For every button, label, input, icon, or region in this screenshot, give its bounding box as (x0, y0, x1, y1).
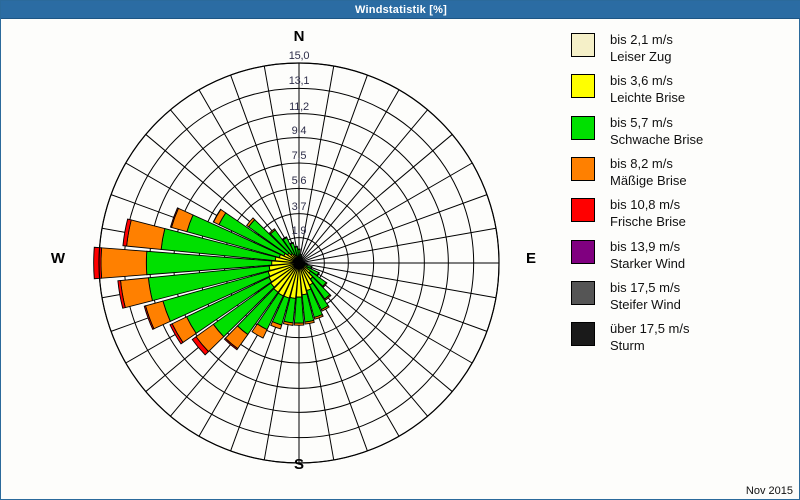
legend-label: bis 2,1 m/sLeiser Zug (610, 31, 673, 65)
wind-petal-segment (301, 257, 302, 258)
legend-item: über 17,5 m/sSturm (571, 320, 796, 354)
legend-color-swatch (571, 322, 595, 346)
legend-item: bis 17,5 m/sSteifer Wind (571, 279, 796, 313)
legend-item: bis 5,7 m/sSchwache Brise (571, 114, 796, 148)
legend-label: bis 3,6 m/sLeichte Brise (610, 72, 685, 106)
radial-tick-label: 9,4 (279, 125, 319, 137)
legend-label: bis 13,9 m/sStarker Wind (610, 238, 685, 272)
legend-beaufort-name: Leiser Zug (610, 48, 673, 65)
wind-petal-segment (127, 220, 165, 250)
legend-speed-range: bis 3,6 m/s (610, 72, 685, 89)
wind-petal-segment (301, 258, 302, 259)
wind-petal-segment (121, 278, 153, 308)
wind-speed-legend: bis 2,1 m/sLeiser Zugbis 3,6 m/sLeichte … (571, 31, 796, 362)
legend-label: bis 8,2 m/sMäßige Brise (610, 155, 687, 189)
legend-color-swatch (571, 240, 595, 264)
legend-color-swatch (571, 281, 595, 305)
radial-tick-label: 5,6 (279, 175, 319, 187)
legend-label: über 17,5 m/sSturm (610, 320, 690, 354)
legend-speed-range: bis 17,5 m/s (610, 279, 681, 296)
wind-petal-segment (294, 323, 304, 325)
compass-label-west: W (33, 250, 83, 267)
radial-tick-label: 1,9 (279, 225, 319, 237)
compass-label-south: S (274, 456, 324, 473)
radial-tick-label: 11,2 (279, 101, 319, 113)
wind-petal-segment (101, 248, 147, 278)
radial-tick-label: 13,1 (279, 75, 319, 87)
wind-rose-plot: N E S W 1,93,75,67,59,411,213,115,0 (1, 20, 561, 500)
legend-speed-range: bis 2,1 m/s (610, 31, 673, 48)
radial-tick-label: 15,0 (279, 50, 319, 62)
legend-item: bis 2,1 m/sLeiser Zug (571, 31, 796, 65)
period-label: Nov 2015 (746, 485, 793, 497)
legend-beaufort-name: Starker Wind (610, 255, 685, 272)
legend-item: bis 13,9 m/sStarker Wind (571, 238, 796, 272)
legend-beaufort-name: Leichte Brise (610, 89, 685, 106)
legend-speed-range: über 17,5 m/s (610, 320, 690, 337)
radial-tick-label: 7,5 (279, 150, 319, 162)
radial-tick-label: 3,7 (279, 201, 319, 213)
legend-color-swatch (571, 33, 595, 57)
legend-item: bis 3,6 m/sLeichte Brise (571, 72, 796, 106)
legend-speed-range: bis 5,7 m/s (610, 114, 703, 131)
legend-color-swatch (571, 74, 595, 98)
windstatistik-window: Windstatistik [%] N E S W 1,93,75,67,59,… (0, 0, 800, 500)
legend-speed-range: bis 10,8 m/s (610, 196, 686, 213)
wind-petal-segment (294, 297, 303, 323)
wind-rose-svg (1, 20, 561, 500)
legend-color-swatch (571, 116, 595, 140)
legend-speed-range: bis 13,9 m/s (610, 238, 685, 255)
window-title-bar: Windstatistik [%] (1, 1, 800, 19)
compass-label-east: E (506, 250, 556, 267)
legend-item: bis 10,8 m/sFrische Brise (571, 196, 796, 230)
legend-speed-range: bis 8,2 m/s (610, 155, 687, 172)
wind-petal-segment (301, 259, 302, 260)
legend-label: bis 5,7 m/sSchwache Brise (610, 114, 703, 148)
wind-petal-segment (298, 249, 300, 250)
wind-petal-segment (300, 254, 301, 255)
window-title: Windstatistik [%] (355, 4, 447, 16)
legend-beaufort-name: Mäßige Brise (610, 172, 687, 189)
legend-label: bis 17,5 m/sSteifer Wind (610, 279, 681, 313)
legend-item: bis 8,2 m/sMäßige Brise (571, 155, 796, 189)
legend-beaufort-name: Sturm (610, 337, 690, 354)
legend-label: bis 10,8 m/sFrische Brise (610, 196, 686, 230)
legend-beaufort-name: Frische Brise (610, 213, 686, 230)
legend-beaufort-name: Steifer Wind (610, 296, 681, 313)
legend-color-swatch (571, 157, 595, 181)
legend-color-swatch (571, 198, 595, 222)
compass-label-north: N (274, 28, 324, 45)
wind-petal-segment (94, 247, 102, 279)
wind-petal-segment (295, 246, 298, 247)
legend-beaufort-name: Schwache Brise (610, 131, 703, 148)
